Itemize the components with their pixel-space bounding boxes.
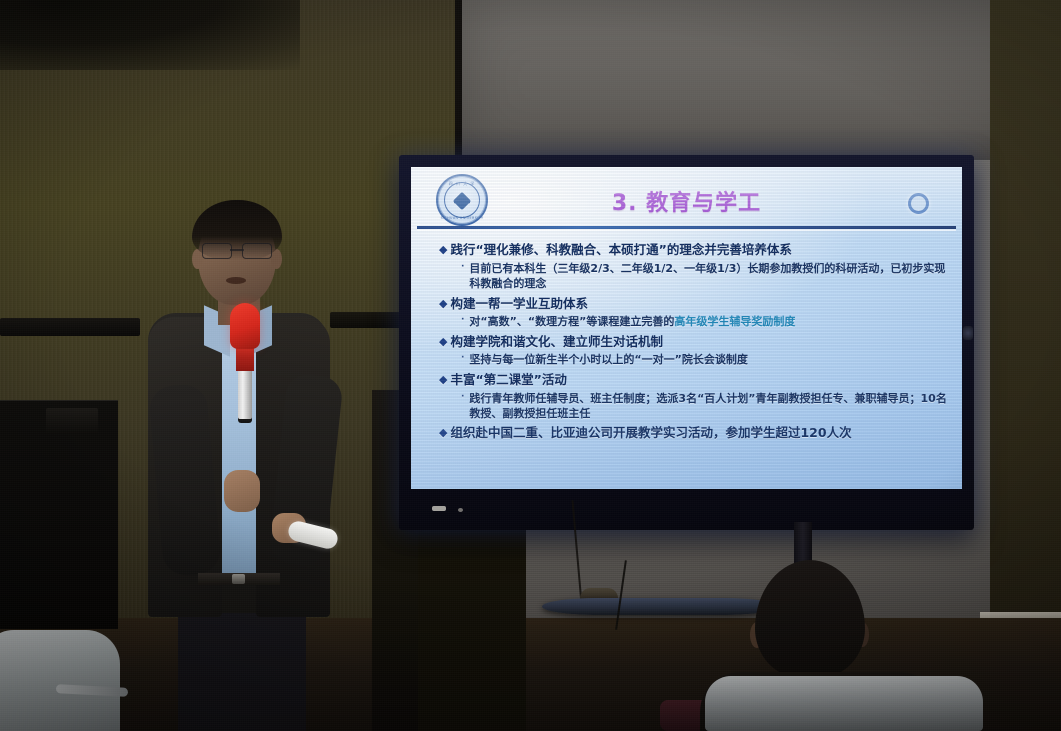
bullet-text: 践行青年教师任辅导员、班主任制度；选派3名“百人计划”青年副教授担任专、兼职辅导…: [469, 391, 950, 422]
diamond-bullet-icon: ◆: [439, 295, 447, 312]
microphone-handle: [238, 367, 252, 419]
bullet-text-highlight: 高年级学生辅导奖励制度: [674, 315, 795, 328]
bullet-text: 对“高数”、“数理方程”等课程建立完善的高年级学生辅导奖励制度: [469, 314, 795, 329]
bullet-level1: ◆ 构建一帮一学业互助体系: [439, 295, 950, 313]
display-ir-sensor: [458, 508, 463, 512]
glasses-bridge: [230, 249, 244, 251]
ceiling-shadow: [0, 0, 300, 70]
chair-back-left: [0, 630, 120, 731]
dot-bullet-icon: ·: [461, 261, 464, 275]
diamond-bullet-icon: ◆: [439, 371, 447, 388]
microphone-head: [230, 303, 260, 349]
bullet-level1: ◆ 丰富“第二课堂”活动: [439, 371, 950, 389]
slide-body: ◆ 践行“理化兼修、科教融合、本硕打通”的理念并完善培养体系 · 目前已有本科生…: [439, 241, 950, 444]
dot-bullet-icon: ·: [461, 352, 464, 366]
bullet-text: 丰富“第二课堂”活动: [450, 371, 566, 389]
projection-screen: [459, 0, 1059, 160]
display-power-led: [432, 506, 446, 511]
cabinet-top-box: [46, 408, 98, 434]
bullet-level1: ◆ 组织赴中国二重、比亚迪公司开展教学实习活动，参加学生超过120人次: [439, 424, 950, 442]
bullet-text: 坚持与每一位新生半个小时以上的“一对一”院长会谈制度: [469, 352, 747, 367]
diamond-bullet-icon: ◆: [439, 424, 447, 441]
bullet-text: 践行“理化兼修、科教融合、本硕打通”的理念并完善培养体系: [450, 241, 791, 259]
projection-screen-edge: [455, 0, 462, 160]
title-divider: [417, 226, 956, 229]
diamond-bullet-icon: ◆: [439, 333, 447, 350]
wall-rail-left: [0, 318, 140, 336]
presentation-slide[interactable]: 四 川 大 学 SICHUAN UNIVERSITY 3. 教育与学工 ◆ 践行…: [411, 167, 962, 489]
belt-buckle: [232, 574, 245, 584]
bullet-level2: · 践行青年教师任辅导员、班主任制度；选派3名“百人计划”青年副教授担任专、兼职…: [461, 391, 950, 422]
diamond-bullet-icon: ◆: [439, 241, 447, 258]
equipment-cabinet: [0, 400, 118, 629]
slide-title: 3. 教育与学工: [411, 185, 962, 217]
presenter-hand-holding-microphone: [224, 470, 260, 512]
equipment-shelf: [542, 598, 778, 615]
bullet-text: 构建学院和谐文化、建立师生对话机制: [450, 333, 663, 351]
bullet-level1: ◆ 构建学院和谐文化、建立师生对话机制: [439, 333, 950, 351]
slide-header: 四 川 大 学 SICHUAN UNIVERSITY 3. 教育与学工: [411, 167, 962, 229]
chair-back-right: [705, 676, 983, 731]
bullet-text: 组织赴中国二重、比亚迪公司开展教学实习活动，参加学生超过120人次: [450, 424, 851, 442]
display-side-button[interactable]: [963, 326, 973, 340]
bullet-level1: ◆ 践行“理化兼修、科教融合、本硕打通”的理念并完善培养体系: [439, 241, 950, 259]
bullet-text: 目前已有本科生（三年级2/3、二年级1/2、一年级1/3）长期参加教授们的科研活…: [469, 261, 950, 292]
presenter-mouth: [226, 277, 246, 284]
bullet-level2: · 目前已有本科生（三年级2/3、二年级1/2、一年级1/3）长期参加教授们的科…: [461, 261, 950, 292]
presenter: [120, 195, 370, 731]
bullet-level2: · 坚持与每一位新生半个小时以上的“一对一”院长会谈制度: [461, 352, 950, 367]
bullet-text-plain: 对“高数”、“数理方程”等课程建立完善的: [469, 315, 674, 328]
bullet-text: 构建一帮一学业互助体系: [450, 295, 588, 313]
bullet-level2: · 对“高数”、“数理方程”等课程建立完善的高年级学生辅导奖励制度: [461, 314, 950, 329]
dot-bullet-icon: ·: [461, 314, 464, 328]
lecture-hall-photo: 四 川 大 学 SICHUAN UNIVERSITY 3. 教育与学工 ◆ 践行…: [0, 0, 1061, 731]
dot-bullet-icon: ·: [461, 391, 464, 405]
ring-icon: [908, 193, 929, 214]
eyeglasses-icon: [202, 243, 272, 258]
